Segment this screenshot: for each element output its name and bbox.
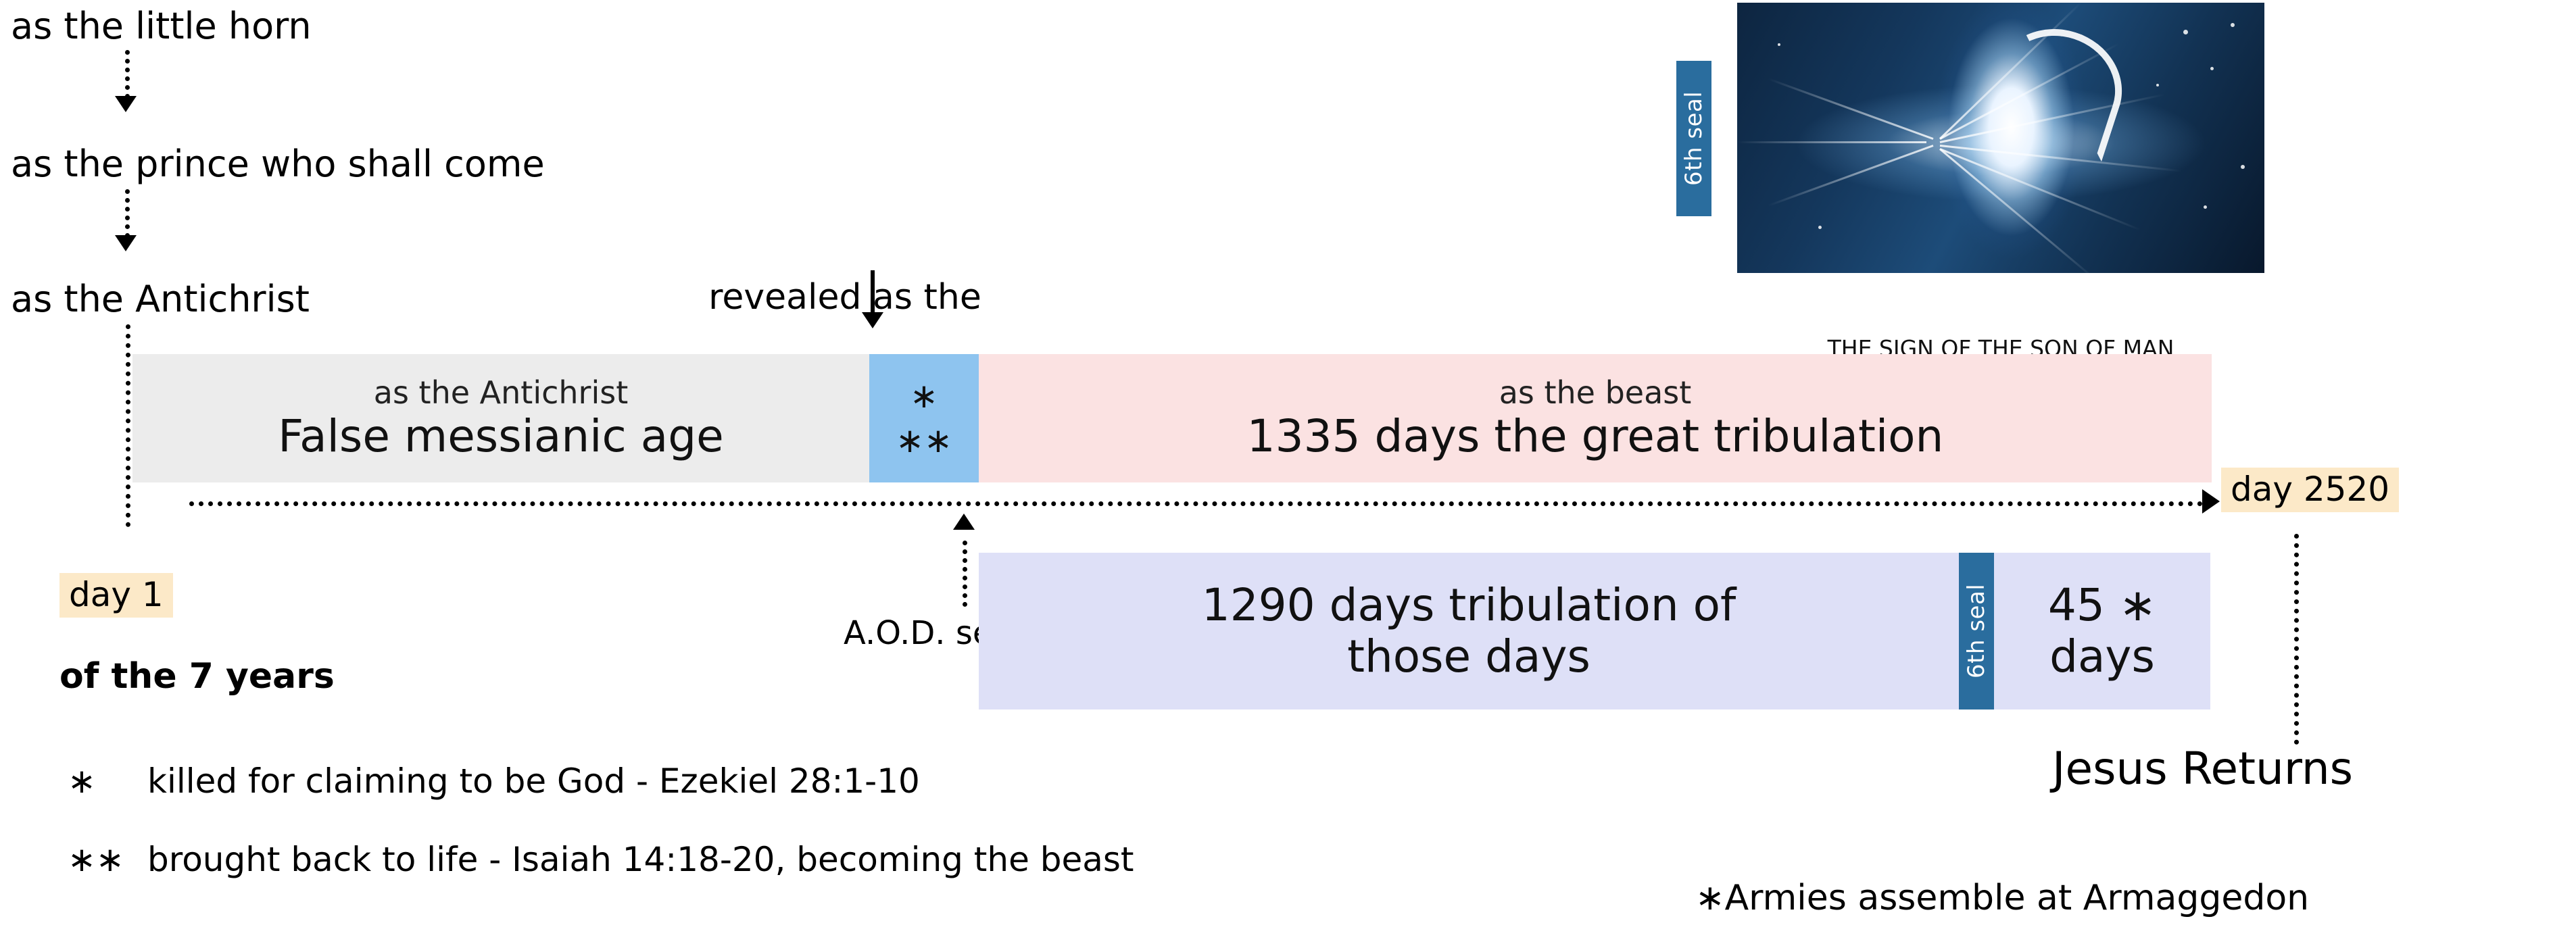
light-ray	[1768, 145, 1933, 207]
marker-star-single: ∗	[910, 379, 938, 413]
aod-arrow-head-up	[953, 514, 975, 530]
chip-day-2520: day 2520	[2221, 468, 2399, 512]
star-dot	[2241, 165, 2245, 169]
footnote-2-text: brought back to life - Isaiah 14:18-20, …	[147, 841, 1134, 880]
star-dot	[2183, 30, 2188, 34]
diagram-canvas: as the little horn as the prince who sha…	[0, 0, 2576, 946]
chip-day-2520-wrap: day 2520	[2221, 468, 2399, 512]
arrow-head-down-1	[115, 96, 137, 112]
star-dot	[2156, 84, 2159, 86]
day1-marker-line	[126, 324, 130, 527]
hook-shape-icon	[1979, 13, 2137, 161]
footnote-1-text: killed for claiming to be God - Ezekiel …	[147, 762, 920, 801]
reveal-arrow-head	[862, 312, 883, 328]
bar-45-days-line2: days	[2049, 631, 2155, 682]
bar-45-days-line1: 45 ∗	[2048, 580, 2156, 631]
star-dot	[2231, 23, 2235, 27]
chip-day-1: day 1	[59, 573, 173, 618]
seal-tag-bar: 6th seal	[1959, 553, 1994, 709]
light-ray	[1768, 78, 1933, 140]
chip-day-1-wrap: day 1	[59, 573, 173, 618]
bar-great-tribulation: as the beast 1335 days the great tribula…	[979, 354, 2212, 482]
sign-of-son-of-man-image	[1737, 3, 2264, 273]
reveal-note-line1: revealed as the	[669, 276, 1021, 320]
footnote-2-marker: ∗∗	[68, 841, 124, 880]
marker-star-double: ∗∗	[896, 424, 952, 457]
reveal-arrow-line	[871, 270, 875, 316]
label-of-the-7-years: of the 7 years	[59, 657, 335, 697]
label-armies-armaggedon: ∗Armies assemble at Armaggedon	[1695, 878, 2309, 919]
light-ray	[1939, 148, 2141, 231]
label-jesus-returns: Jesus Returns	[2052, 743, 2353, 795]
bar-great-tribulation-toplabel: as the beast	[1499, 375, 1692, 411]
label-little-horn: as the little horn	[11, 5, 312, 47]
label-prince-who-shall-come: as the prince who shall come	[11, 143, 545, 185]
bar-great-tribulation-label: 1335 days the great tribulation	[1247, 411, 1944, 462]
bar-1290-label-line2: those days	[1347, 631, 1590, 682]
seal-tag-picture: 6th seal	[1676, 61, 1711, 216]
timeline-dotted-line	[189, 501, 2204, 506]
star-dot	[1778, 43, 1780, 46]
arrow-head-down-2	[115, 235, 137, 251]
day2520-marker-line	[2294, 534, 2299, 745]
bar-45-days: 45 ∗ days	[1994, 553, 2210, 709]
star-dot	[2210, 67, 2214, 70]
dotted-connector-1	[125, 50, 130, 99]
light-ray	[1939, 148, 2096, 273]
star-dot	[1818, 226, 1822, 229]
bar-death-resurrection-marker: ∗ ∗∗	[869, 354, 979, 482]
light-ray	[1940, 145, 2182, 172]
star-dot	[2204, 205, 2207, 209]
bar-1290-label-line1: 1290 days tribulation of	[1202, 580, 1736, 631]
dotted-connector-2	[125, 189, 130, 238]
bar-false-messianic-age-label: False messianic age	[278, 411, 723, 462]
bar-1290-days-tribulation: 1290 days tribulation of those days	[979, 553, 1959, 709]
label-antichrist: as the Antichrist	[11, 278, 310, 320]
bar-false-messianic-age: as the Antichrist False messianic age	[132, 354, 869, 482]
timeline-arrow-head	[2202, 489, 2220, 514]
aod-marker-line	[963, 541, 967, 607]
light-ray	[1737, 141, 1926, 143]
footnote-1-marker: ∗	[68, 762, 96, 801]
bar-false-messianic-age-toplabel: as the Antichrist	[374, 375, 628, 411]
